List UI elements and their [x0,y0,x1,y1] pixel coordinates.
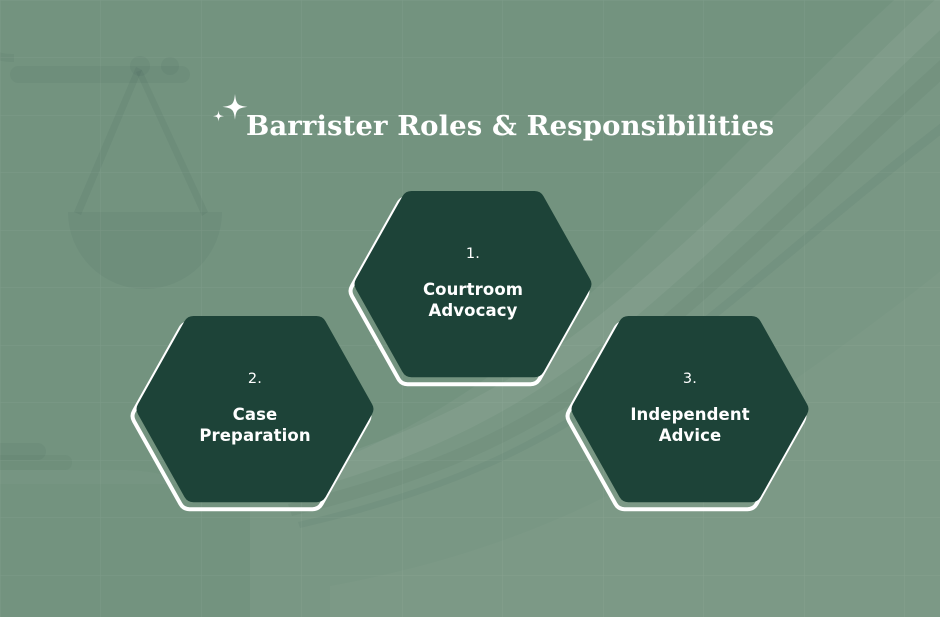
hexagon-shape-1 [344,180,596,408]
hexagon-shape-2 [126,305,378,533]
hexagon-node-1[interactable]: 1. Courtroom Advocacy [344,180,596,408]
sparkle-icon [208,92,252,138]
hexagon-node-3[interactable]: 3. Independent Advice [561,305,813,533]
hexagon-shape-3 [561,305,813,533]
slide-header: Barrister Roles & Responsibilities [208,88,774,144]
slide-canvas: Barrister Roles & Responsibilities 1. Co… [0,0,940,617]
hexagon-node-2[interactable]: 2. Case Preparation [126,305,378,533]
page-title: Barrister Roles & Responsibilities [246,113,774,141]
